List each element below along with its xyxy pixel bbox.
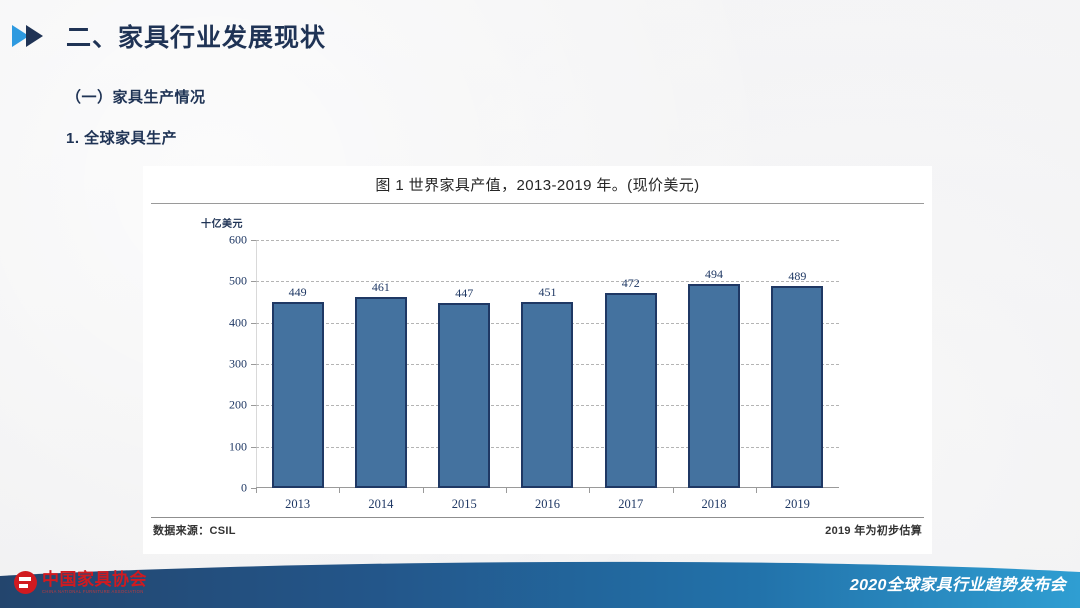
logo-english-name: CHINA NATIONAL FURNITURE ASSOCIATION (42, 589, 147, 594)
double-triangle-bullet-icon (12, 23, 52, 49)
y-axis-tick-label: 600 (229, 233, 247, 248)
x-axis-tick-label: 2018 (702, 497, 727, 512)
bar-value-label: 489 (788, 269, 806, 284)
bar-slot: 4492013 (256, 240, 339, 488)
bar-value-label: 461 (372, 280, 390, 295)
bar-2013[interactable]: 449 (272, 302, 324, 488)
y-axis-tick-label: 0 (241, 481, 247, 496)
bar-slot: 4472015 (423, 240, 506, 488)
plot-area: 6005004003002001000 44920134612014447201… (256, 240, 839, 488)
event-title: 2020全球家具行业趋势发布会 (850, 571, 1066, 595)
bar-slot: 4942018 (673, 240, 756, 488)
bar-slot: 4612014 (339, 240, 422, 488)
bar-slot: 4892019 (756, 240, 839, 488)
x-axis-tick-mark (506, 488, 507, 493)
bar-2015[interactable]: 447 (438, 303, 490, 488)
y-axis-tick-label: 100 (229, 439, 247, 454)
x-axis-tick-label: 2015 (452, 497, 477, 512)
bar-2014[interactable]: 461 (355, 297, 407, 488)
y-axis-tick-label: 200 (229, 398, 247, 413)
x-axis-tick-mark (256, 488, 257, 493)
bar-value-label: 449 (289, 285, 307, 300)
bar-value-label: 447 (455, 286, 473, 301)
bar-value-label: 451 (538, 285, 556, 300)
bar-slot: 4722017 (589, 240, 672, 488)
page-title: 二、家具行业发展现状 (66, 18, 326, 54)
bar-series: 4492013461201444720154512016472201749420… (256, 240, 839, 488)
y-axis-unit-label: 十亿美元 (201, 215, 243, 230)
x-axis-tick-label: 2016 (535, 497, 560, 512)
x-axis-tick-mark (673, 488, 674, 493)
x-axis-tick-mark (339, 488, 340, 493)
x-axis-tick-mark (423, 488, 424, 493)
x-axis-tick-label: 2013 (285, 497, 310, 512)
y-axis-tick-label: 300 (229, 357, 247, 372)
x-axis-tick-mark (589, 488, 590, 493)
bar-slot: 4512016 (506, 240, 589, 488)
chart-title: 图 1 世界家具产值，2013-2019 年。(现价美元) (143, 174, 932, 195)
association-logo: 中国家具协会 CHINA NATIONAL FURNITURE ASSOCIAT… (14, 571, 147, 594)
title-divider (151, 203, 924, 204)
x-axis-tick-label: 2017 (618, 497, 643, 512)
bar-2017[interactable]: 472 (605, 293, 657, 488)
bar-2019[interactable]: 489 (771, 286, 823, 488)
x-axis-tick-label: 2014 (368, 497, 393, 512)
bar-value-label: 472 (622, 276, 640, 291)
bar-2016[interactable]: 451 (521, 302, 573, 488)
chart-estimate-note: 2019 年为初步估算 (825, 522, 922, 538)
y-axis-tick-label: 500 (229, 274, 247, 289)
logo-mark-icon (14, 571, 37, 594)
chart-source-note: 数据来源：CSIL (153, 522, 236, 538)
slide-heading: 二、家具行业发展现状 (12, 18, 326, 54)
logo-chinese-name: 中国家具协会 (42, 571, 147, 589)
sub-heading-production-overview: （一）家具生产情况 (66, 86, 206, 107)
y-axis-tick-label: 400 (229, 315, 247, 330)
chart-card: 图 1 世界家具产值，2013-2019 年。(现价美元) 十亿美元 60050… (143, 166, 932, 554)
sub-heading-global-production: 1. 全球家具生产 (66, 127, 177, 148)
bar-value-label: 494 (705, 267, 723, 282)
x-axis-tick-mark (756, 488, 757, 493)
x-axis-tick-label: 2019 (785, 497, 810, 512)
bar-2018[interactable]: 494 (688, 284, 740, 488)
footer-divider (151, 517, 924, 518)
